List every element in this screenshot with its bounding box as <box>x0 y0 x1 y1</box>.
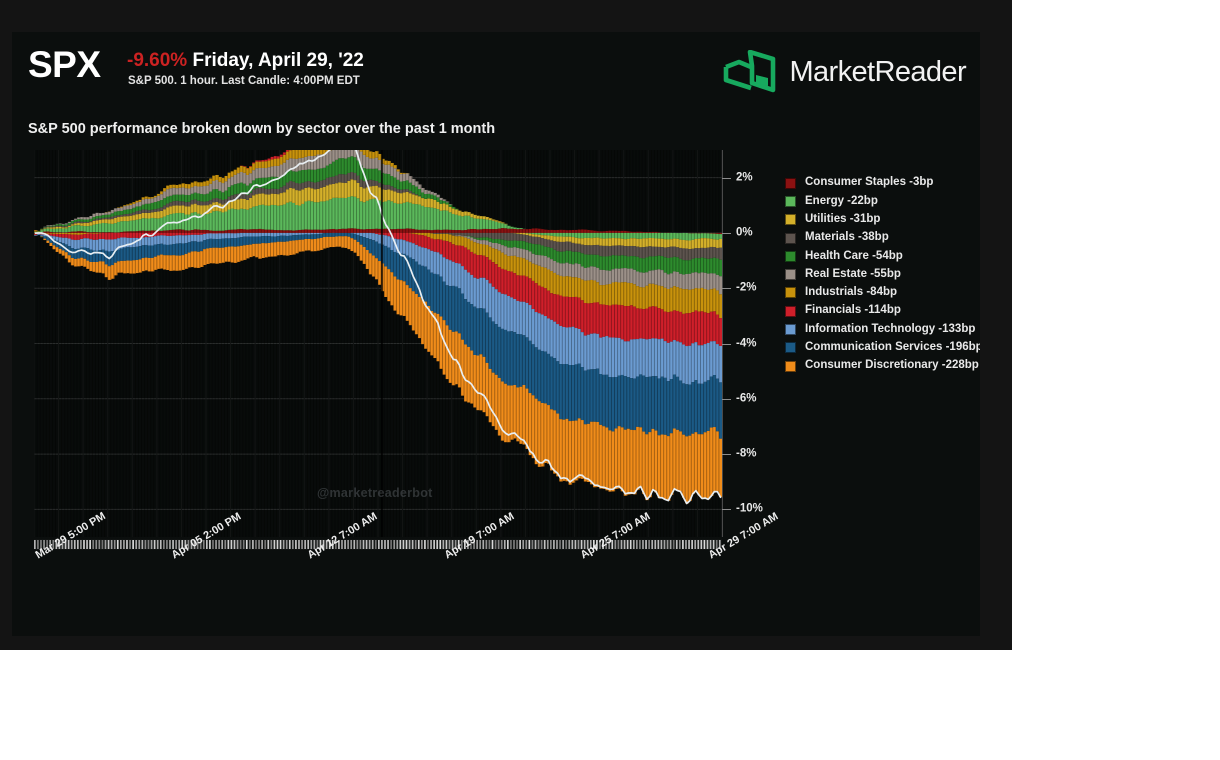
brand-logo: MarketReader <box>723 50 966 94</box>
y-tick-mark <box>722 344 731 345</box>
y-tick-mark <box>722 399 731 400</box>
legend-item[interactable]: Consumer Staples -3bp <box>785 174 980 192</box>
legend-color-swatch <box>785 342 796 353</box>
legend-label: Financials -114bp <box>805 305 901 317</box>
y-tick-mark <box>722 233 731 234</box>
panel-header: SPX -9.60% Friday, April 29, '22 S&P 500… <box>12 32 980 118</box>
change-headline: -9.60% Friday, April 29, '22 <box>127 51 364 70</box>
legend-item[interactable]: Communication Services -196bp <box>785 339 980 357</box>
legend-label: Health Care -54bp <box>805 251 903 263</box>
legend-color-swatch <box>785 287 796 298</box>
y-axis-tick-label: -10% <box>736 504 763 516</box>
screenshot-frame: SPX -9.60% Friday, April 29, '22 S&P 500… <box>0 0 1012 650</box>
y-tick-mark <box>722 288 731 289</box>
legend-label: Consumer Discretionary -228bp <box>805 360 979 372</box>
legend-item[interactable]: Energy -22bp <box>785 192 980 210</box>
y-axis: 2%0%-2%-4%-6%-8%-10% <box>722 150 792 537</box>
y-axis-tick-label: -2% <box>736 282 756 294</box>
legend-label: Energy -22bp <box>805 196 878 208</box>
legend-color-swatch <box>785 196 796 207</box>
legend-color-swatch <box>785 178 796 189</box>
legend-color-swatch <box>785 214 796 225</box>
legend-color-swatch <box>785 233 796 244</box>
legend-item[interactable]: Industrials -84bp <box>785 284 980 302</box>
quote-date: Friday, April 29, '22 <box>192 50 363 71</box>
y-tick-mark <box>722 178 731 179</box>
legend-label: Materials -38bp <box>805 232 889 244</box>
legend-item[interactable]: Utilities -31bp <box>785 211 980 229</box>
legend-item[interactable]: Financials -114bp <box>785 302 980 320</box>
y-axis-tick-label: -8% <box>736 448 756 460</box>
plot-area: @marketreaderbot <box>34 150 722 537</box>
legend-color-swatch <box>785 306 796 317</box>
legend-color-swatch <box>785 361 796 372</box>
legend-color-swatch <box>785 324 796 335</box>
legend-color-swatch <box>785 269 796 280</box>
legend-item[interactable]: Materials -38bp <box>785 229 980 247</box>
stacked-area-svg <box>34 150 722 537</box>
legend-label: Industrials -84bp <box>805 287 897 299</box>
brand-name: MarketReader <box>789 58 966 87</box>
y-axis-tick-label: 2% <box>736 172 753 184</box>
legend-item[interactable]: Health Care -54bp <box>785 247 980 265</box>
legend-label: Information Technology -133bp <box>805 324 975 336</box>
chart-title: S&P 500 performance broken down by secto… <box>28 122 495 137</box>
legend-item[interactable]: Real Estate -55bp <box>785 265 980 283</box>
marketreader-logo-icon <box>723 50 777 94</box>
change-percent: -9.60% <box>127 50 187 71</box>
ticker-symbol: SPX <box>28 46 101 83</box>
legend-label: Real Estate -55bp <box>805 269 901 281</box>
y-axis-tick-label: -6% <box>736 393 756 405</box>
y-tick-mark <box>722 509 731 510</box>
y-axis-tick-label: -4% <box>736 338 756 350</box>
chart-panel: SPX -9.60% Friday, April 29, '22 S&P 500… <box>12 32 980 636</box>
y-tick-mark <box>722 454 731 455</box>
legend-label: Utilities -31bp <box>805 214 880 226</box>
legend-item[interactable]: Information Technology -133bp <box>785 320 980 338</box>
legend-label: Consumer Staples -3bp <box>805 177 933 189</box>
sector-performance-chart: @marketreaderbot 2%0%-2%-4%-6%-8%-10% Ma… <box>12 144 980 636</box>
y-axis-tick-label: 0% <box>736 227 753 239</box>
quote-subtitle: S&P 500. 1 hour. Last Candle: 4:00PM EDT <box>128 76 360 88</box>
legend-label: Communication Services -196bp <box>805 342 980 354</box>
chart-legend: Consumer Staples -3bpEnergy -22bpUtiliti… <box>785 174 980 375</box>
legend-color-swatch <box>785 251 796 262</box>
legend-item[interactable]: Consumer Discretionary -228bp <box>785 357 980 375</box>
